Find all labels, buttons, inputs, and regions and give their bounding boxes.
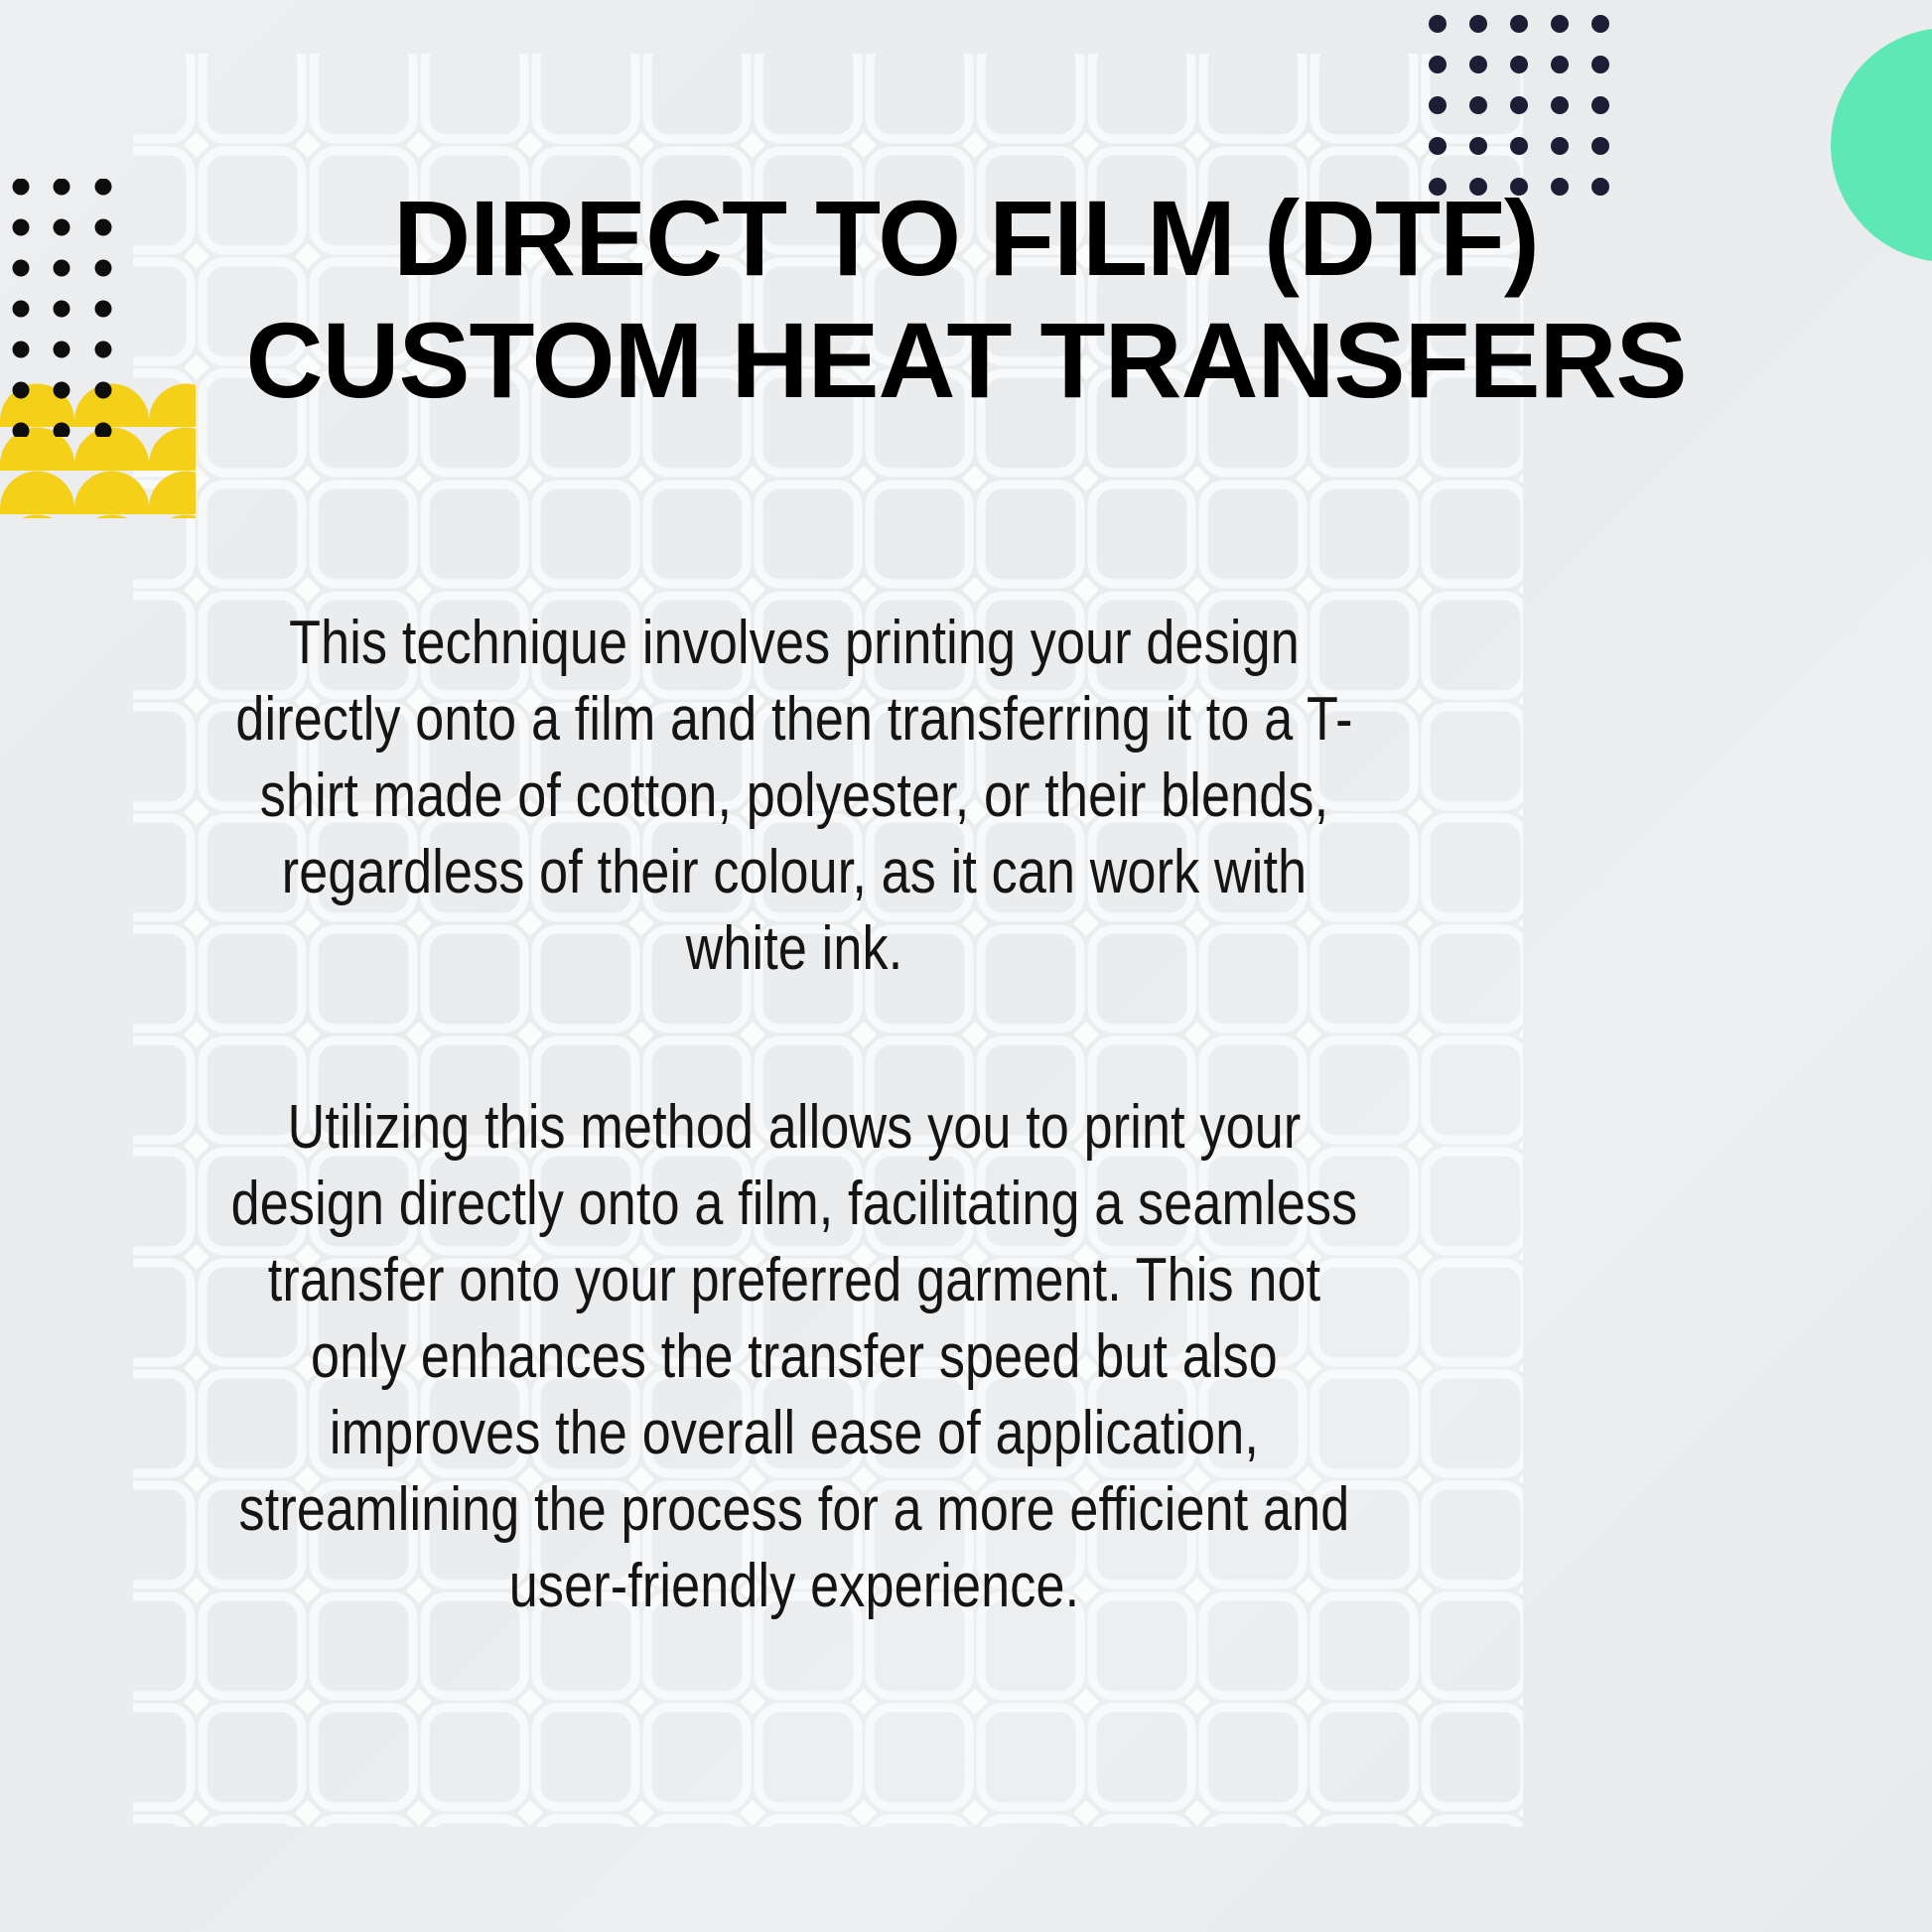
content-layer: DIRECT TO FILM (DTF) CUSTOM HEAT TRANSFE… — [0, 0, 1932, 1932]
paragraph-1: This technique involves printing your de… — [227, 606, 1361, 987]
poster-canvas: DIRECT TO FILM (DTF) CUSTOM HEAT TRANSFE… — [0, 0, 1932, 1932]
paragraph-2: Utilizing this method allows you to prin… — [227, 1090, 1361, 1624]
page-title: DIRECT TO FILM (DTF) CUSTOM HEAT TRANSFE… — [199, 177, 1733, 421]
body-copy: This technique involves printing your de… — [119, 606, 1469, 1687]
